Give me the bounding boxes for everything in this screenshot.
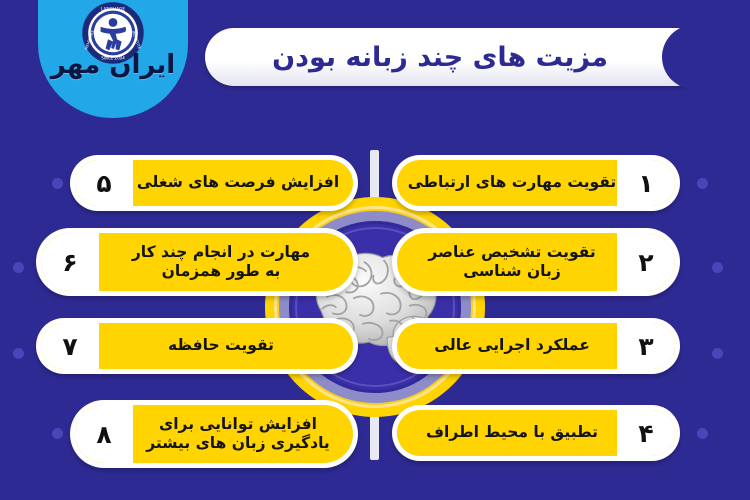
benefit-number-1: ۱ [617,160,675,206]
page-title: مزیت های چند زبانه بودن [205,28,675,86]
benefit-pill-7[interactable]: ۷ تقویت حافظه [36,318,358,374]
benefit-line: افزایش توانایی برای [133,415,343,434]
svg-text:LANGUAGE: LANGUAGE [101,7,125,13]
decor-dot-left-3 [13,348,24,359]
benefit-pill-1[interactable]: ۱ تقویت مهارت های ارتباطی [392,155,680,211]
benefit-pill-6[interactable]: ۶ مهارت در انجام چند کار به طور همزمان [36,228,358,296]
decor-dot-left-1 [52,178,63,189]
benefit-line: تقویت مهارت های ارتباطی [407,173,617,192]
decor-dot-right-4 [697,428,708,439]
benefit-number-3: ۳ [617,323,675,369]
decor-dot-right-2 [712,262,723,273]
benefit-line: عملکرد اجرایی عالی [407,336,617,355]
benefit-label-3: عملکرد اجرایی عالی [407,323,617,369]
header-bar: LANGUAGE SINCE 2004 MEHRPARS INSTITUTE ا… [0,0,750,118]
benefit-label-8: افزایش توانایی برای یادگیری زبان های بیش… [133,405,343,463]
institute-logo-badge: LANGUAGE SINCE 2004 MEHRPARS INSTITUTE ا… [38,0,188,118]
benefit-number-5: ۵ [75,160,133,206]
benefit-label-6: مهارت در انجام چند کار به طور همزمان [99,233,343,291]
benefit-line: زبان شناسی [407,262,617,281]
benefit-label-1: تقویت مهارت های ارتباطی [407,160,617,206]
benefit-pill-5[interactable]: ۵ افزایش فرصت های شغلی [70,155,358,211]
benefit-number-8: ۸ [75,405,133,463]
benefit-line: تقویت تشخیص عناصر [407,243,617,262]
benefit-pill-8[interactable]: ۸ افزایش توانایی برای یادگیری زبان های ب… [70,400,358,468]
benefit-number-6: ۶ [41,233,99,291]
benefit-number-4: ۴ [617,410,675,456]
benefit-label-2: تقویت تشخیص عناصر زبان شناسی [407,233,617,291]
benefit-pill-3[interactable]: ۳ عملکرد اجرایی عالی [392,318,680,374]
benefit-number-7: ۷ [41,323,99,369]
decor-dot-left-4 [52,428,63,439]
benefit-line: یادگیری زبان های بیشتر [133,434,343,453]
benefit-label-7: تقویت حافظه [99,323,343,369]
benefit-pill-4[interactable]: ۴ تطبیق با محیط اطراف [392,405,680,461]
benefit-line: افزایش فرصت های شغلی [133,173,343,192]
benefit-number-2: ۲ [617,233,675,291]
infographic-canvas: LANGUAGE SINCE 2004 MEHRPARS INSTITUTE ا… [0,0,750,500]
benefit-label-4: تطبیق با محیط اطراف [407,410,617,456]
benefit-label-5: افزایش فرصت های شغلی [133,160,343,206]
benefit-pill-2[interactable]: ۲ تقویت تشخیص عناصر زبان شناسی [392,228,680,296]
decor-dot-left-2 [13,262,24,273]
decor-dot-right-1 [697,178,708,189]
benefit-line: به طور همزمان [99,262,343,281]
benefit-line: مهارت در انجام چند کار [99,243,343,262]
decor-dot-right-3 [712,348,723,359]
logo-wordmark: ایران مهر [43,52,183,78]
benefit-line: تطبیق با محیط اطراف [407,423,617,442]
benefit-line: تقویت حافظه [99,336,343,355]
